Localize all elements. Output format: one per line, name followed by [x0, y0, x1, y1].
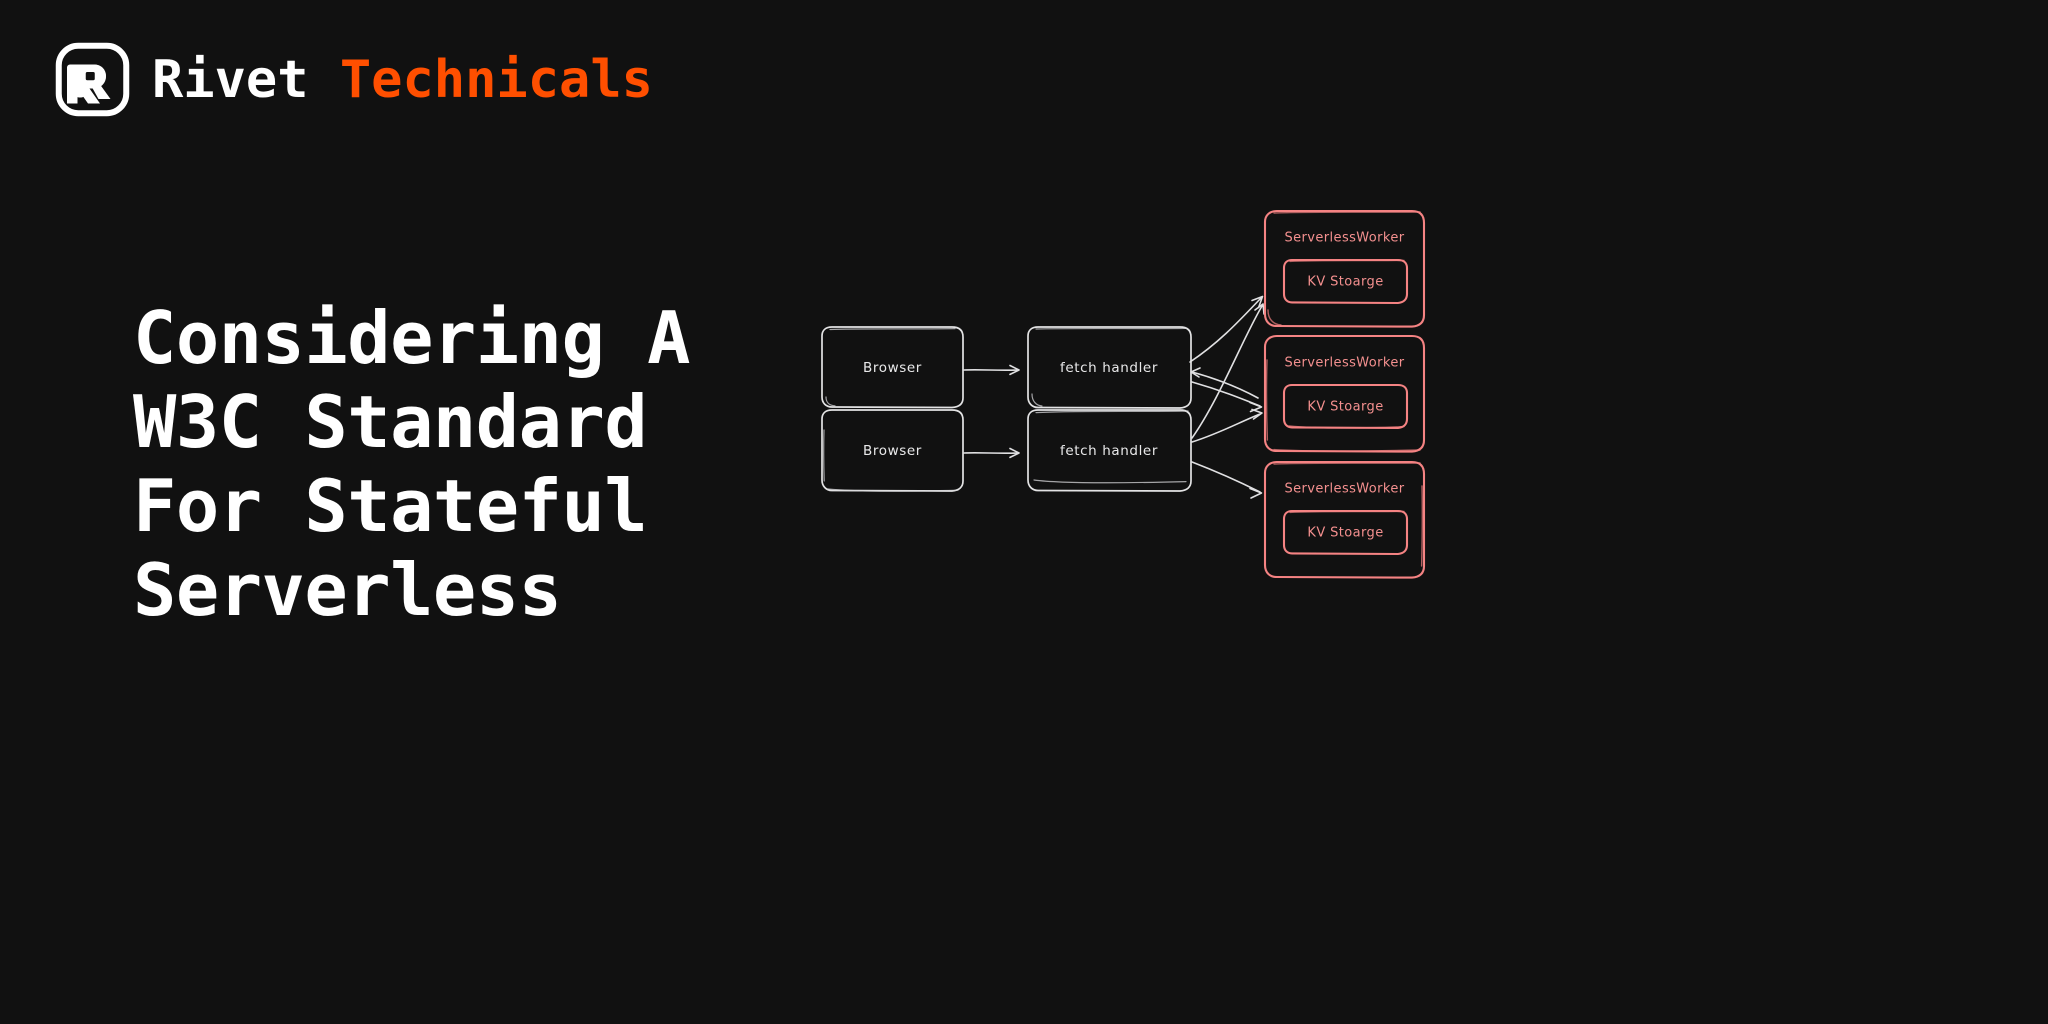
node-serverless-worker-1[interactable]: ServerlessWorker KV Stoarge — [1265, 211, 1424, 327]
node-serverless-worker-1-title: ServerlessWorker — [1285, 231, 1405, 246]
headline-line-1: Considering A — [133, 296, 813, 380]
node-browser-2[interactable]: Browser — [822, 410, 963, 491]
node-kv-storage-1[interactable]: KV Stoarge — [1284, 260, 1407, 303]
node-serverless-worker-2-title: ServerlessWorker — [1285, 356, 1405, 371]
arrow-handler2-to-worker2 — [1192, 410, 1262, 443]
rivet-r-logo-icon — [55, 42, 130, 117]
node-fetch-handler-1-label: fetch handler — [1060, 360, 1158, 376]
node-kv-storage-3[interactable]: KV Stoarge — [1284, 511, 1407, 554]
brand-suffix: Technicals — [340, 50, 653, 110]
arrow-browser1-to-handler1 — [964, 366, 1019, 375]
node-browser-1[interactable]: Browser — [822, 327, 963, 408]
arrow-handler1-to-worker2 — [1192, 382, 1262, 412]
node-browser-1-label: Browser — [863, 360, 922, 376]
brand-title: Rivet Technicals — [152, 54, 653, 106]
arrow-worker2-to-handler1 — [1191, 368, 1258, 398]
node-serverless-worker-3[interactable]: ServerlessWorker KV Stoarge — [1265, 462, 1424, 578]
node-browser-2-label: Browser — [863, 443, 922, 459]
node-serverless-worker-3-title: ServerlessWorker — [1285, 482, 1405, 497]
architecture-diagram: Browser Browser fetch handler fetch hand… — [800, 190, 1460, 590]
headline-line-3: For Stateful — [133, 464, 813, 548]
arrow-handler2-to-worker3 — [1192, 462, 1262, 498]
node-fetch-handler-1[interactable]: fetch handler — [1028, 327, 1191, 408]
node-fetch-handler-2[interactable]: fetch handler — [1028, 410, 1191, 491]
arrow-browser2-to-handler2 — [964, 449, 1019, 458]
page-title: Considering A W3C Standard For Stateful … — [133, 296, 813, 632]
brand-name: Rivet — [152, 50, 309, 110]
node-fetch-handler-2-label: fetch handler — [1060, 443, 1158, 459]
node-kv-storage-3-label: KV Stoarge — [1307, 526, 1383, 541]
headline-line-4: Serverless — [133, 548, 813, 632]
node-serverless-worker-2[interactable]: ServerlessWorker KV Stoarge — [1265, 336, 1424, 452]
arrow-handler2-to-worker1 — [1192, 304, 1264, 438]
node-kv-storage-2-label: KV Stoarge — [1307, 400, 1383, 415]
node-kv-storage-1-label: KV Stoarge — [1307, 275, 1383, 290]
headline-line-2: W3C Standard — [133, 380, 813, 464]
node-kv-storage-2[interactable]: KV Stoarge — [1284, 385, 1407, 428]
brand-header: Rivet Technicals — [55, 42, 653, 117]
arrow-handler1-to-worker1 — [1190, 297, 1263, 363]
